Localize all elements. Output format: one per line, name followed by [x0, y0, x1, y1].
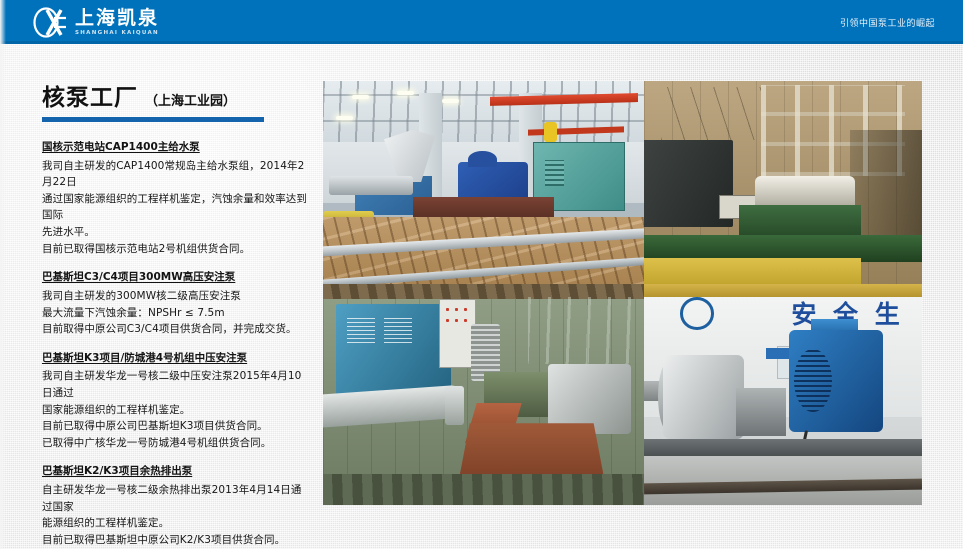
ph3-floor-grate — [323, 474, 644, 505]
ph3-panel-button — [464, 308, 467, 311]
photo-blue-motor-barrel-pump: 安 全 生 — [644, 284, 922, 505]
top-header-bar: 上海凯泉 SHANGHAI KAIQUAN 引领中国泵工业的崛起 — [0, 0, 963, 44]
brand-logo[interactable]: 上海凯泉 SHANGHAI KAIQUAN — [32, 6, 159, 39]
text-block: 巴基斯坦C3/C4项目300MW高压安注泵 我司自主研发的300MW核二级高压安… — [42, 270, 310, 337]
header-bottom-shade — [0, 41, 963, 44]
ph1-lamp — [352, 95, 369, 99]
ph1-rotor-shaft — [329, 176, 412, 194]
photo-plant-room-green-skid — [644, 81, 922, 284]
page-title-sub: （上海工业园） — [145, 90, 236, 109]
left-content-column: 核泵工厂 （上海工业园） 国核示范电站CAP1400主给水泵 我司自主研发的CA… — [42, 78, 310, 548]
ph3-panel-button — [455, 308, 458, 311]
text-block-line: 通过国家能源组织的工程样机鉴定，汽蚀余量和效率达到国际 — [42, 191, 310, 224]
ph1-lamp — [442, 99, 459, 103]
ph2-yellow-floor — [644, 258, 861, 284]
text-block-heading: 国核示范电站CAP1400主给水泵 — [42, 140, 310, 156]
ph3-panel-button — [446, 319, 449, 322]
text-block-line: 最大流量下汽蚀余量：NPSHr ≤ 7.5m — [42, 305, 310, 322]
text-block-line: 目前取得中原公司C3/C4项目供货合同，并完成交货。 — [42, 321, 310, 338]
brand-logo-text: 上海凯泉 SHANGHAI KAIQUAN — [75, 9, 159, 37]
brand-name-en: SHANGHAI KAIQUAN — [75, 31, 159, 37]
kaiquan-logo-icon — [32, 7, 68, 38]
ph1-hoist-icon — [544, 122, 557, 142]
page-title-main: 核泵工厂 — [42, 78, 138, 112]
ph3-pipe-flange — [445, 386, 464, 426]
text-block-line: 我司自主研发的300MW核二级高压安注泵 — [42, 288, 310, 305]
ph3-motor-label — [347, 317, 375, 342]
text-block-line: 我司自主研发华龙一号核二级中压安注泵2015年4月10日通过 — [42, 368, 310, 401]
ph1-lamp — [397, 91, 414, 95]
ph4-motor-vents — [794, 349, 832, 412]
ph2-conduit — [661, 87, 761, 140]
ph4-valve-wheel-icon — [680, 297, 714, 330]
text-block-line: 能源组织的工程样机鉴定。 — [42, 515, 310, 532]
text-block-line: 我司自主研发的CAP1400常规岛主给水泵组，2014年2月22日 — [42, 158, 310, 191]
header-slogan: 引领中国泵工业的崛起 — [840, 0, 935, 44]
text-block: 巴基斯坦K3项目/防城港4号机组中压安注泵 我司自主研发华龙一号核二级中压安注泵… — [42, 351, 310, 452]
text-block: 国核示范电站CAP1400主给水泵 我司自主研发的CAP1400常规岛主给水泵组… — [42, 140, 310, 257]
text-block-line: 国家能源组织的工程样机鉴定。 — [42, 402, 310, 419]
text-block-line: 先进水平。 — [42, 224, 310, 241]
ph3-panel-button — [464, 319, 467, 322]
page-title: 核泵工厂 （上海工业园） — [42, 78, 310, 112]
ph2-motor-grill — [646, 149, 671, 168]
text-block-line: 目前已取得国核示范电站2号机组供货合同。 — [42, 241, 310, 258]
text-block-line: 已取得中广核华龙一号防城港4号机组供货合同。 — [42, 435, 310, 452]
text-block-line: 目前已取得中原公司巴基斯坦K3项目供货合同。 — [42, 418, 310, 435]
slide-canvas: 上海凯泉 SHANGHAI KAIQUAN 引领中国泵工业的崛起 核泵工厂 （上… — [0, 0, 963, 549]
text-block-line: 目前已取得巴基斯坦中原公司K2/K3项目供货合同。 — [42, 532, 310, 549]
ph3-upper-pipes — [528, 297, 644, 363]
ph2-motor-grill — [684, 149, 709, 168]
photo-blue-motor-test-stand — [323, 284, 644, 505]
photo-grid: 安 全 生 — [323, 81, 922, 505]
ph4-blue-motor — [789, 330, 884, 432]
ph1-lamp — [336, 116, 353, 120]
ph1-pump-base — [413, 197, 554, 217]
brand-name-cn: 上海凯泉 — [75, 9, 159, 28]
ph3-panel-button — [455, 319, 458, 322]
text-block-list: 国核示范电站CAP1400主给水泵 我司自主研发的CAP1400常规岛主给水泵组… — [42, 140, 310, 548]
ph3-panel-button — [446, 308, 449, 311]
ph4-gearbox — [736, 388, 786, 437]
text-block-heading: 巴基斯坦K3项目/防城港4号机组中压安注泵 — [42, 351, 310, 367]
ph3-motor-label — [384, 317, 412, 342]
title-underline-rule — [42, 117, 264, 122]
ph4-wall-char: 生 — [875, 295, 900, 331]
ph4-barrel-pump — [663, 355, 744, 439]
text-block-heading: 巴基斯坦K2/K3项目余热排出泵 — [42, 464, 310, 480]
text-block-line: 自主研发华龙一号核二级余热排出泵2013年4月14日通过国家 — [42, 482, 310, 515]
ph1-motor-vent — [545, 160, 565, 187]
text-block: 巴基斯坦K2/K3项目余热排出泵 自主研发华龙一号核二级余热排出泵2013年4月… — [42, 464, 310, 548]
text-block-heading: 巴基斯坦C3/C4项目300MW高压安注泵 — [42, 270, 310, 286]
ph2-green-skid — [739, 205, 861, 237]
photo-factory-hall-pump-train — [323, 81, 644, 284]
ph1-roof — [323, 81, 644, 148]
